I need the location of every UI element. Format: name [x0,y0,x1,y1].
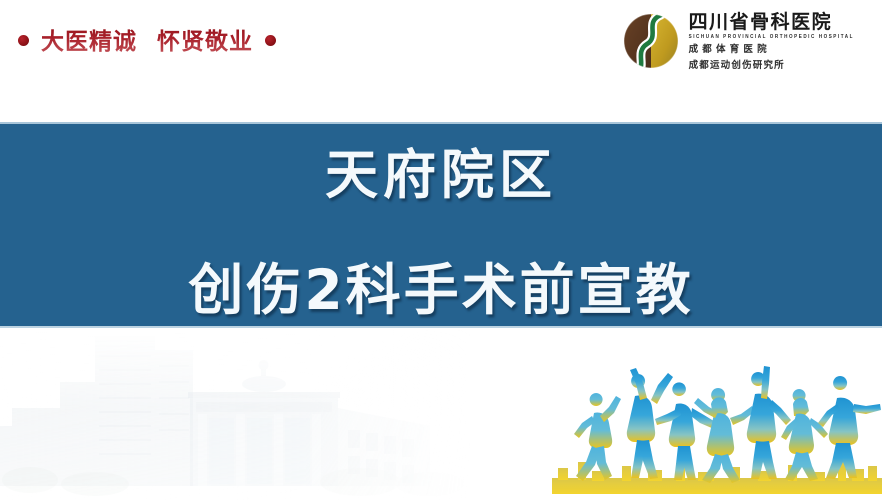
bottom-image-area [0,330,882,500]
hospital-circle-logo-icon [620,10,682,72]
slogan-text: 大医精诚怀贤敬业 [41,22,253,56]
jumping-people-silhouettes-icon [552,350,882,500]
hospital-logo: 四川省骨科医院 SICHUAN PROVINCIAL ORTHOPEDIC HO… [620,10,854,72]
banner-title-line-1: 天府院区 [325,133,557,209]
bullet-dot-icon [265,35,276,46]
logo-subtitle-2: 成都运动创伤研究所 [689,59,854,72]
banner-title-line-2: 创伤2科手术前宣教 [188,245,693,325]
logo-text-block: 四川省骨科医院 SICHUAN PROVINCIAL ORTHOPEDIC HO… [689,10,854,72]
slogan-block: 大医精诚怀贤敬业 [18,22,276,56]
title-banner: 天府院区 创伤2科手术前宣教 [0,122,882,328]
logo-subtitle-1: 成都体育医院 [689,43,854,56]
header-bar: 大医精诚怀贤敬业 [0,0,882,112]
logo-title-en: SICHUAN PROVINCIAL ORTHOPEDIC HOSPITAL [689,34,854,42]
slide-root: 大医精诚怀贤敬业 [0,0,882,500]
logo-title-cn: 四川省骨科医院 [689,12,854,33]
slogan-part-1: 大医精诚 [41,29,137,55]
hospital-building-watermark-icon [0,330,470,500]
bullet-dot-icon [18,35,29,46]
slogan-part-2: 怀贤敬业 [157,29,253,55]
